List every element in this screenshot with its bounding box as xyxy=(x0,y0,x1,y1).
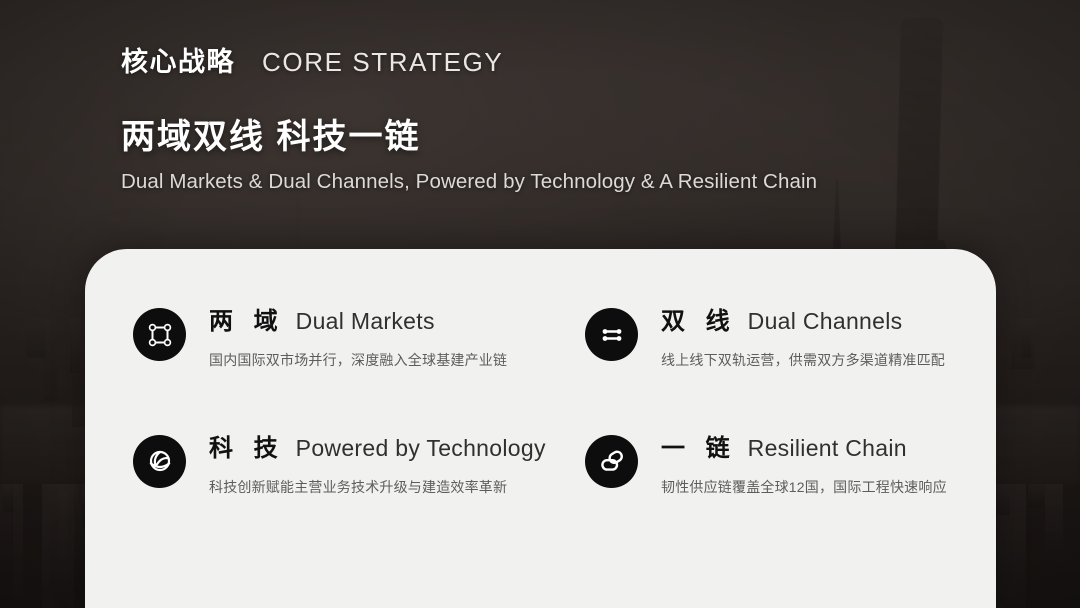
header: 核心战略 CORE STRATEGY 两域双线 科技一链 Dual Market… xyxy=(121,48,1001,194)
eyebrow-label-en: CORE STRATEGY xyxy=(262,48,503,77)
strategy-card: 两 域 Dual Markets 国内国际双市场并行，深度融入全球基建产业链 xyxy=(85,249,996,608)
page-title: 两域双线 科技一链 xyxy=(121,117,1001,157)
strategy-item-description: 国内国际双市场并行，深度融入全球基建产业链 xyxy=(209,351,507,371)
dual-track-lines-icon xyxy=(585,308,638,361)
slide-canvas: 核心战略 CORE STRATEGY 两域双线 科技一链 Dual Market… xyxy=(0,0,1080,608)
strategy-item-title-en: Resilient Chain xyxy=(748,436,907,461)
strategy-item-description: 科技创新赋能主营业务技术升级与建造效率革新 xyxy=(209,478,546,498)
strategy-item-title-cn: 两 域 xyxy=(209,309,285,335)
strategy-item-title-cn: 双 线 xyxy=(661,309,737,335)
strategy-item-description: 韧性供应链覆盖全球12国，国际工程快速响应 xyxy=(661,478,947,498)
chain-link-icon xyxy=(585,435,638,488)
strategy-item-dual-markets[interactable]: 两 域 Dual Markets 国内国际双市场并行，深度融入全球基建产业链 xyxy=(133,306,585,371)
strategy-item-text: 科 技 Powered by Technology 科技创新赋能主营业务技术升级… xyxy=(209,433,546,498)
strategy-item-technology[interactable]: 科 技 Powered by Technology 科技创新赋能主营业务技术升级… xyxy=(133,433,585,498)
strategy-item-title-row: 一 链 Resilient Chain xyxy=(661,436,947,462)
strategy-item-title-row: 双 线 Dual Channels xyxy=(661,309,945,335)
artboard-frame-icon xyxy=(133,308,186,361)
strategy-item-title-row: 两 域 Dual Markets xyxy=(209,309,507,335)
eyebrow-label-cn: 核心战略 xyxy=(121,48,235,78)
strategy-item-title-row: 科 技 Powered by Technology xyxy=(209,436,546,462)
strategy-item-title-cn: 科 技 xyxy=(209,436,285,462)
strategy-item-dual-channels[interactable]: 双 线 Dual Channels 线上线下双轨运营，供需双方多渠道精准匹配 xyxy=(585,306,953,371)
eyebrow: 核心战略 CORE STRATEGY xyxy=(121,48,1001,78)
strategy-item-title-cn: 一 链 xyxy=(661,436,737,462)
strategy-item-resilient-chain[interactable]: 一 链 Resilient Chain 韧性供应链覆盖全球12国，国际工程快速响… xyxy=(585,433,953,498)
strategy-item-title-en: Dual Channels xyxy=(748,309,903,334)
strategy-item-text: 双 线 Dual Channels 线上线下双轨运营，供需双方多渠道精准匹配 xyxy=(661,306,945,371)
globe-tech-icon xyxy=(133,435,186,488)
strategy-item-title-en: Dual Markets xyxy=(296,309,435,334)
strategy-item-title-en: Powered by Technology xyxy=(296,436,546,461)
strategy-item-description: 线上线下双轨运营，供需双方多渠道精准匹配 xyxy=(661,351,945,371)
page-subtitle: Dual Markets & Dual Channels, Powered by… xyxy=(121,170,1001,195)
strategy-item-text: 一 链 Resilient Chain 韧性供应链覆盖全球12国，国际工程快速响… xyxy=(661,433,947,498)
strategy-grid: 两 域 Dual Markets 国内国际双市场并行，深度融入全球基建产业链 xyxy=(133,306,953,498)
strategy-item-text: 两 域 Dual Markets 国内国际双市场并行，深度融入全球基建产业链 xyxy=(209,306,507,371)
